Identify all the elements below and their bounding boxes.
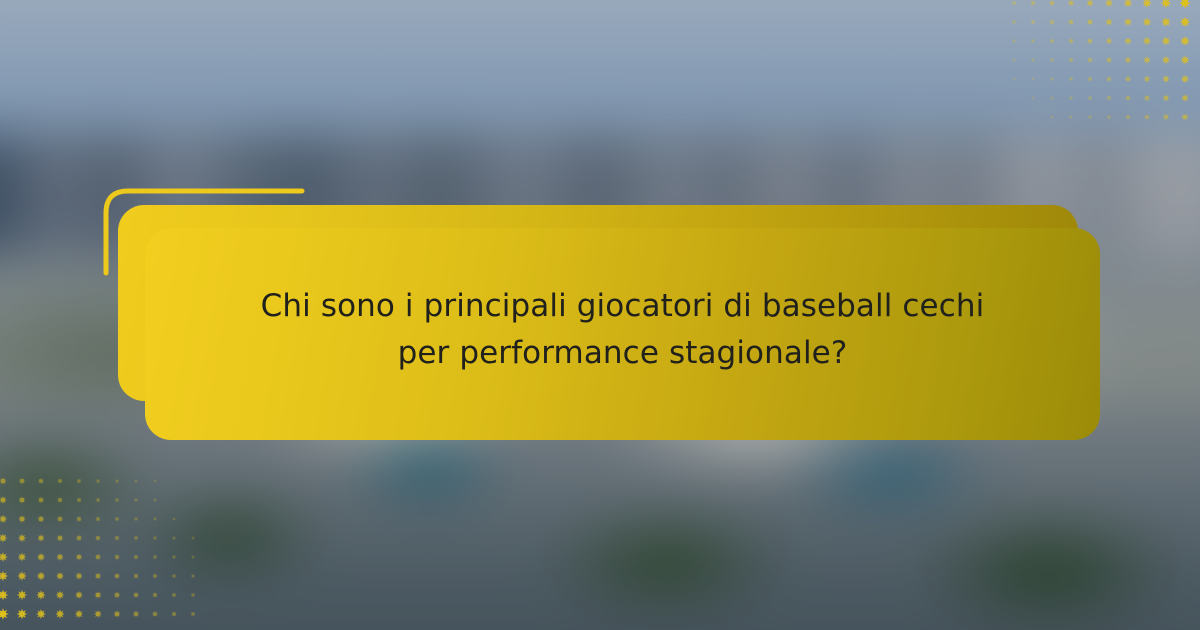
headline-line-1: Chi sono i principali giocatori di baseb… (205, 283, 1040, 330)
page-title: Chi sono i principali giocatori di baseb… (145, 283, 1100, 377)
headline-card: Chi sono i principali giocatori di baseb… (145, 228, 1100, 440)
share-card-canvas: Chi sono i principali giocatori di baseb… (0, 0, 1200, 630)
headline-line-2: per performance stagionale? (205, 330, 1040, 377)
